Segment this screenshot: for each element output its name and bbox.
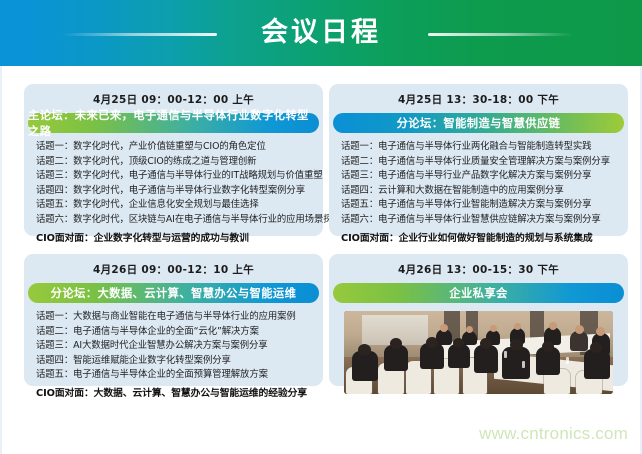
page-title: 会议日程 [261, 0, 381, 66]
photo-water-glass [504, 351, 507, 358]
agenda-grid: 4月25日 09：00-12：00 上午 主论坛：未来已来，电子通信与半导体行业… [0, 66, 642, 454]
topic-item: 话题一：电子通信与半导体行业两化融合与智能制造转型实践 [341, 140, 618, 155]
photo-attendee-head [390, 338, 402, 349]
panel-title: 分论坛：智能制造与智慧供应链 [397, 115, 561, 131]
topic-item: 话题四：数字化时代，电子通信与半导体行业数字化转型案例分享 [36, 184, 313, 199]
topic-item: 话题三：数字化时代，电子通信与半导体行业的IT战略规划与价值重塑 [36, 169, 313, 184]
photo-attendee-head [453, 338, 464, 348]
panel-date: 4月26日 09：00-12：10 上午 [24, 254, 323, 277]
page-header: 会议日程 [0, 0, 642, 66]
photo-attendee [462, 331, 477, 345]
header-title-wrap: 会议日程 [0, 0, 642, 66]
panel-date: 4月25日 09：00-12：00 上午 [24, 84, 323, 107]
panel-title-bar: 主论坛：未来已来，电子通信与半导体行业数字化转型之路 [28, 113, 319, 133]
photo-attendee-head [490, 325, 497, 332]
photo-attendee [570, 331, 588, 351]
topic-item: 话题二：电子通信与半导体企业的全面“云化”解决方案 [36, 325, 313, 340]
topic-item: 话题二：数字化时代，顶级CIO的练成之道与管理创新 [36, 155, 313, 170]
photo-attendee-head [596, 327, 605, 336]
panel-title: 主论坛：未来已来，电子通信与半导体行业数字化转型之路 [28, 107, 319, 139]
photo-attendee-head [440, 324, 448, 332]
agenda-panel-main-forum[interactable]: 4月25日 09：00-12：00 上午 主论坛：未来已来，电子通信与半导体行业… [24, 84, 323, 236]
panel-title-bar: 分论坛：智能制造与智慧供应链 [333, 113, 624, 133]
agenda-board: 4月25日 09：00-12：00 上午 主论坛：未来已来，电子通信与半导体行业… [0, 66, 642, 454]
photo-attendee-head [575, 325, 584, 334]
topic-item: 话题五：数字化时代，企业信息化安全规划与最佳选择 [36, 198, 313, 213]
panel-title: 分论坛：大数据、云计算、智慧办公与智能运维 [51, 285, 297, 301]
topic-item: 话题三：AI大数据时代企业智慧办公解决方案与案例分享 [36, 339, 313, 354]
topic-item: 话题六：数字化时代，区块链与AI在电子通信与半导体行业的应用场景探讨 [36, 213, 313, 228]
topic-item: 话题三：电子通信与半导行业产品数字化解决方案与案例分享 [341, 169, 618, 184]
photo-water-glass [566, 357, 569, 364]
topic-list: 话题一：大数据与商业智能在电子通信与半导体行业的应用案例 话题二：电子通信与半导… [24, 303, 323, 402]
panel-date: 4月25日 13：30-18：00 下午 [329, 84, 628, 107]
cio-face-to-face-line: CIO面对面：企业数字化转型与运营的成功与教训 [36, 228, 313, 247]
topic-list: 话题一：数字化时代，产业价值链重塑与CIO的角色定位 话题二：数字化时代，顶级C… [24, 133, 323, 247]
topic-item: 话题五：电子通信与半导体企业的全面预算管理解放方案 [36, 368, 313, 383]
photo-attendee-back [474, 345, 498, 373]
photo-content [344, 311, 613, 394]
photo-attendee-head [480, 338, 492, 349]
photo-attendee-head [542, 341, 554, 352]
panel-title-bar: 企业私享会 [333, 283, 624, 303]
topic-item: 话题四：智能运维赋能企业数字化转型案例分享 [36, 354, 313, 369]
conference-room-photo [344, 311, 613, 394]
photo-attendee-back [584, 349, 610, 379]
agenda-panel-smart-manufacturing[interactable]: 4月25日 13：30-18：00 下午 分论坛：智能制造与智慧供应链 话题一：… [329, 84, 628, 236]
topic-item: 话题二：电子通信与半导体行业质量安全管理解决方案与案例分享 [341, 155, 618, 170]
photo-attendee-head [549, 322, 557, 330]
photo-attendee-head [426, 337, 438, 348]
photo-attendee-head [466, 326, 473, 333]
topic-item: 话题五：电子通信与半导体行业智能制造解决方案与案例分享 [341, 198, 618, 213]
photo-attendee-head [514, 323, 521, 330]
photo-attendee-head [590, 342, 602, 353]
photo-attendee-head [510, 339, 523, 351]
cio-face-to-face-line: CIO面对面：大数据、云计算、智慧办公与智能运维的经验分享 [36, 383, 313, 402]
cio-face-to-face-line: CIO面对面：企业行业如何做好智能制造的规划与系统集成 [341, 228, 618, 247]
photo-water-glass [522, 361, 525, 368]
topic-item: 话题一：数字化时代，产业价值链重塑与CIO的角色定位 [36, 140, 313, 155]
topic-item: 话题六：电子通信与半导体行业智慧供应链解决方案与案例分享 [341, 213, 618, 228]
site-watermark: www.cntronics.com [479, 424, 628, 444]
panel-title-bar: 分论坛：大数据、云计算、智慧办公与智能运维 [28, 283, 319, 303]
topic-item: 话题一：大数据与商业智能在电子通信与半导体行业的应用案例 [36, 310, 313, 325]
topic-item: 话题四：云计算和大数据在智能制造中的应用案例分享 [341, 184, 618, 199]
topic-list: 话题一：电子通信与半导体行业两化融合与智能制造转型实践 话题二：电子通信与半导体… [329, 133, 628, 247]
photo-attendee-head [358, 344, 371, 356]
agenda-panel-bigdata-cloud[interactable]: 4月26日 09：00-12：10 上午 分论坛：大数据、云计算、智慧办公与智能… [24, 254, 323, 386]
panel-date: 4月26日 13：00-15：30 下午 [329, 254, 628, 277]
agenda-panel-private-session[interactable]: 4月26日 13：00-15：30 下午 企业私享会 [329, 254, 628, 386]
panel-title: 企业私享会 [449, 285, 508, 301]
